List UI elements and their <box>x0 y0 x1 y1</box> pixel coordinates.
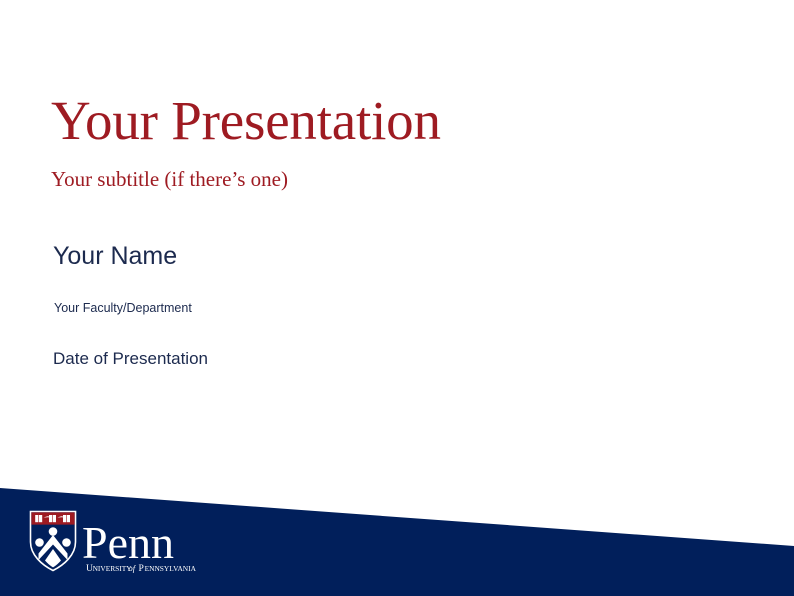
page-subtitle: Your subtitle (if there’s one) <box>51 168 288 191</box>
penn-shield-icon <box>31 512 76 571</box>
penn-logo: Penn U NIVERSITY of P ENNSYLVANIA <box>28 509 228 575</box>
penn-tagline: U NIVERSITY of P ENNSYLVANIA <box>86 563 197 574</box>
shield-plate-3 <box>62 538 71 547</box>
shield-plate-2 <box>35 538 44 547</box>
presenter-name: Your Name <box>53 242 177 271</box>
presentation-slide: Your Presentation Your subtitle (if ther… <box>0 0 794 596</box>
shield-book-3 <box>49 515 52 522</box>
penn-wordmark: Penn <box>82 517 174 568</box>
shield-book-4 <box>53 515 56 522</box>
shield-book-5 <box>63 515 66 522</box>
penn-logo-svg: Penn U NIVERSITY of P ENNSYLVANIA <box>28 509 228 575</box>
penn-tagline-pennsylvania: P <box>139 563 144 574</box>
penn-tagline-pennsylvania-rest: ENNSYLVANIA <box>145 564 197 573</box>
shield-book-1 <box>35 515 38 522</box>
penn-tagline-university-rest: NIVERSITY <box>93 564 133 573</box>
presentation-date: Date of Presentation <box>53 349 208 369</box>
shield-book-6 <box>67 515 70 522</box>
shield-book-2 <box>39 515 42 522</box>
page-title: Your Presentation <box>51 92 441 150</box>
shield-plate-1 <box>49 527 58 536</box>
presenter-department: Your Faculty/Department <box>54 301 192 315</box>
